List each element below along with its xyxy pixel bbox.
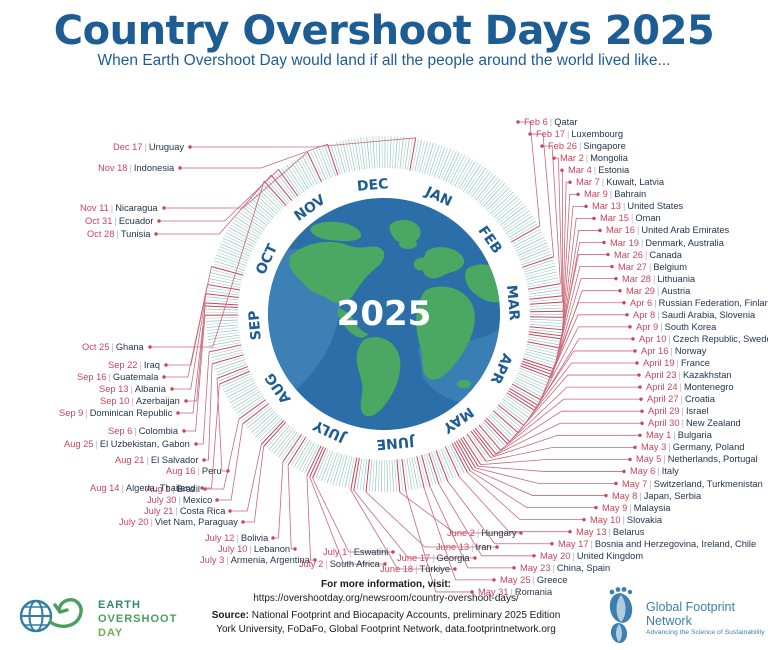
- country-names: Luxembourg: [571, 129, 623, 139]
- country-day-label: Aug 25|El Uzbekistan, Gabon: [64, 439, 190, 450]
- leader-line: [518, 363, 637, 433]
- infographic-canvas: Country Overshoot Days 2025 When Earth O…: [0, 0, 768, 650]
- overshoot-date: May 5: [636, 454, 661, 464]
- overshoot-date: Mar 19: [610, 238, 639, 248]
- label-dot: [162, 206, 165, 209]
- country-names: Lebanon: [254, 544, 290, 554]
- label-dot: [640, 422, 643, 425]
- country-day-label: Feb 6|Qatar: [524, 117, 577, 128]
- country-day-label: June 18|Türkiye: [380, 564, 450, 575]
- country-names: Peru: [202, 466, 222, 476]
- label-dot: [604, 494, 607, 497]
- label-dot: [635, 361, 638, 364]
- country-day-label: Apr 6|Russian Federation, Finland: [630, 298, 768, 309]
- country-names: Bahrain: [614, 189, 646, 199]
- label-dot: [188, 145, 191, 148]
- label-dot: [184, 399, 187, 402]
- country-names: Denmark, Australia: [645, 238, 724, 248]
- footer-text-block: For more information, visit: https://ove…: [176, 578, 596, 636]
- label-dot: [592, 217, 595, 220]
- label-dot: [182, 429, 185, 432]
- leader-line: [459, 476, 570, 531]
- overshoot-date: Mar 29: [626, 286, 655, 296]
- overshoot-date: May 20: [540, 551, 571, 561]
- country-names: Kuwait, Latvia: [606, 177, 664, 187]
- label-dot: [631, 337, 634, 340]
- country-day-label: April 29|Israel: [648, 406, 709, 417]
- gfn-name: Global Footprint Network: [646, 600, 765, 628]
- leader-line: [481, 459, 630, 464]
- label-dot: [582, 518, 585, 521]
- country-day-label: July 21|Costa Rica: [144, 506, 225, 517]
- label-dot: [453, 567, 456, 570]
- label-dot: [633, 446, 636, 449]
- overshoot-date: May 3: [641, 442, 666, 452]
- country-names: Georgia: [437, 553, 470, 563]
- label-dot: [162, 375, 165, 378]
- footprint-icon: [600, 586, 642, 644]
- label-dot: [512, 566, 515, 569]
- country-day-label: June 2|Hungary: [447, 528, 516, 539]
- country-names: Czech Republic, Sweden: [673, 334, 768, 344]
- label-dot: [628, 325, 631, 328]
- country-day-label: Apr 9|South Korea: [636, 322, 716, 333]
- country-names: Azerbaijan: [136, 396, 180, 406]
- country-names: Iraq: [144, 360, 160, 370]
- overshoot-date: April 27: [647, 394, 679, 404]
- leader-line: [205, 419, 239, 489]
- country-day-label: Nov 18|Indonesia: [98, 163, 174, 174]
- country-names: Algeria, Thailand: [126, 483, 196, 493]
- country-day-label: April 24|Montenegro: [646, 382, 734, 393]
- overshoot-date: Oct 25: [82, 342, 109, 352]
- label-dot: [154, 232, 157, 235]
- country-names: Colombia: [139, 426, 178, 436]
- overshoot-date: July 20: [119, 517, 148, 527]
- label-dot: [622, 301, 625, 304]
- country-names: Switzerland, Turkmenistan: [654, 479, 763, 489]
- label-dot: [176, 411, 179, 414]
- country-day-label: May 7|Switzerland, Turkmenistan: [622, 479, 763, 490]
- label-dot: [606, 253, 609, 256]
- country-day-label: June 17|Georgia: [397, 553, 470, 564]
- label-dot: [519, 531, 522, 534]
- overshoot-date: April 30: [648, 418, 680, 428]
- label-dot: [164, 363, 167, 366]
- overshoot-date: Aug 16: [166, 466, 195, 476]
- leader-line: [475, 468, 616, 484]
- country-day-label: Oct 31|Ecuador: [85, 216, 153, 227]
- earth-icon: 2025: [268, 198, 500, 430]
- overshoot-date: Mar 7: [576, 177, 600, 187]
- country-day-label: Mar 27|Belgium: [618, 262, 687, 273]
- label-dot: [293, 547, 296, 550]
- overshoot-date: Nov 18: [98, 163, 127, 173]
- country-names: Hungary: [481, 528, 516, 538]
- overshoot-date: Sep 16: [77, 372, 106, 382]
- overshoot-date: Apr 6: [630, 298, 652, 308]
- country-names: Saudi Arabia, Slovenia: [662, 310, 756, 320]
- overshoot-date: Mar 4: [568, 165, 592, 175]
- country-names: Norway: [675, 346, 707, 356]
- leader-line: [478, 466, 624, 471]
- overshoot-date: April 29: [648, 406, 680, 416]
- country-names: El Uzbekistan, Gabon: [100, 439, 190, 449]
- label-dot: [560, 169, 563, 172]
- overshoot-date: Mar 28: [622, 274, 651, 284]
- label-dot: [568, 530, 571, 533]
- country-day-label: Sep 10|Azerbaijan: [100, 396, 180, 407]
- country-names: Nicaragua: [115, 203, 157, 213]
- country-day-label: April 19|France: [643, 358, 710, 369]
- overshoot-date: Feb 26: [548, 141, 577, 151]
- label-dot: [640, 410, 643, 413]
- country-day-label: May 17|Bosnia and Herzegovina, Ireland, …: [558, 539, 756, 550]
- leader-line: [510, 375, 639, 442]
- country-day-label: May 9|Malaysia: [602, 503, 670, 514]
- country-names: El Salvador: [151, 455, 199, 465]
- country-names: United Arab Emirates: [641, 225, 729, 235]
- leader-line: [467, 472, 584, 519]
- overshoot-date: July 30: [147, 495, 176, 505]
- source-text-1: National Footprint and Biocapacity Accou…: [252, 610, 561, 621]
- country-day-label: Oct 28|Tunisia: [87, 229, 150, 240]
- label-dot: [576, 193, 579, 196]
- country-day-label: Dec 17|Uruguay: [113, 142, 184, 153]
- overshoot-date: July 21: [144, 506, 173, 516]
- country-names: Belarus: [613, 527, 645, 537]
- label-dot: [625, 313, 628, 316]
- label-dot: [528, 132, 531, 135]
- overshoot-date: Sep 6: [108, 426, 132, 436]
- country-day-label: Apr 10|Czech Republic, Sweden: [639, 334, 768, 345]
- global-footprint-network-logo: Global Footprint Network Advancing the S…: [600, 584, 765, 646]
- more-info-label: For more information, visit:: [176, 578, 596, 592]
- label-dot: [639, 397, 642, 400]
- country-names: Eswatini: [354, 547, 389, 557]
- country-names: Bulgaria: [678, 430, 712, 440]
- country-day-label: Mar 2|Mongolia: [560, 153, 628, 164]
- eod-line-3: DAY: [98, 626, 177, 640]
- country-day-label: Mar 28|Lithuania: [622, 274, 695, 285]
- overshoot-date: Apr 8: [633, 310, 655, 320]
- earth-overshoot-day-logo: EARTH OVERSHOOT DAY: [14, 590, 174, 642]
- country-day-label: Mar 19|Denmark, Australia: [610, 238, 724, 249]
- country-names: Lithuania: [657, 274, 695, 284]
- country-day-label: Mar 26|Canada: [614, 250, 682, 261]
- country-names: Bolivia: [241, 533, 268, 543]
- country-day-label: Apr 16|Norway: [641, 346, 706, 357]
- country-names: Armenia, Argentina: [231, 555, 310, 565]
- overshoot-date: May 8: [612, 491, 637, 501]
- country-names: Slovakia: [627, 515, 662, 525]
- country-names: Japan, Serbia: [644, 491, 701, 501]
- country-names: Ecuador: [119, 216, 154, 226]
- overshoot-date: July 3: [200, 555, 224, 565]
- label-dot: [638, 385, 641, 388]
- country-day-label: May 13|Belarus: [576, 527, 644, 538]
- earth-overshoot-day-wordmark: EARTH OVERSHOOT DAY: [98, 598, 177, 640]
- country-names: Montenegro: [684, 382, 734, 392]
- country-names: Türkiye: [420, 564, 450, 574]
- country-names: Mexico: [183, 495, 212, 505]
- overshoot-date: Feb 17: [536, 129, 565, 139]
- overshoot-date: Aug 25: [64, 439, 93, 449]
- gfn-tagline: Advancing the Science of Sustainability: [646, 629, 765, 636]
- country-day-label: Feb 17|Luxembourg: [536, 129, 623, 140]
- country-day-label: April 27|Croatia: [647, 394, 715, 405]
- country-day-label: Aug 21|El Salvador: [115, 455, 198, 466]
- country-names: Ghana: [116, 342, 144, 352]
- country-names: Iran: [476, 542, 492, 552]
- country-day-label: Sep 9|Dominican Republic: [59, 408, 172, 419]
- label-dot: [495, 545, 498, 548]
- country-names: Oman: [635, 213, 660, 223]
- country-names: Croatia: [685, 394, 715, 404]
- country-day-label: May 23|China, Spain: [520, 563, 610, 574]
- country-day-label: July 3|Armenia, Argentina: [200, 555, 310, 566]
- country-day-label: Mar 16|United Arab Emirates: [606, 225, 729, 236]
- country-names: New Zealand: [686, 418, 741, 428]
- country-day-label: July 12|Bolivia: [205, 533, 268, 544]
- source-label: Source:: [212, 610, 249, 621]
- country-day-label: May 8|Japan, Serbia: [612, 491, 701, 502]
- label-dot: [568, 181, 571, 184]
- country-day-label: Nov 11|Nicaragua: [80, 203, 158, 214]
- label-dot: [638, 434, 641, 437]
- label-dot: [532, 554, 535, 557]
- overshoot-date: May 13: [576, 527, 607, 537]
- country-day-label: Sep 6|Colombia: [108, 426, 178, 437]
- country-day-label: May 1|Bulgaria: [646, 430, 712, 441]
- label-dot: [614, 482, 617, 485]
- eod-line-2: OVERSHOOT: [98, 612, 177, 626]
- overshoot-date: Apr 9: [636, 322, 658, 332]
- overshoot-date: Dec 17: [113, 142, 142, 152]
- label-dot: [602, 241, 605, 244]
- leader-line: [288, 465, 295, 549]
- overshoot-date: July 10: [218, 544, 247, 554]
- country-names: Mongolia: [590, 153, 628, 163]
- overshoot-date: June 17: [397, 553, 430, 563]
- country-names: Russian Federation, Finland: [659, 298, 768, 308]
- label-dot: [241, 520, 244, 523]
- overshoot-url[interactable]: https://overshootday.org/newsroom/countr…: [176, 592, 596, 606]
- label-dot: [594, 506, 597, 509]
- country-day-label: Feb 26|Singapore: [548, 141, 626, 152]
- overshoot-date: June 18: [380, 564, 413, 574]
- label-dot: [540, 144, 543, 147]
- month-label-june: JUNE: [376, 433, 416, 452]
- overshoot-date: June 13: [436, 542, 469, 552]
- country-day-label: Oct 25|Ghana: [82, 342, 144, 353]
- country-names: Kazakhstan: [683, 370, 732, 380]
- overshoot-date: Sep 10: [100, 396, 129, 406]
- overshoot-date: June 2: [447, 528, 475, 538]
- country-day-label: Sep 13|Albania: [99, 384, 166, 395]
- country-day-label: Mar 15|Oman: [600, 213, 661, 224]
- month-label-sep: SEP: [246, 310, 265, 341]
- overshoot-date: May 1: [646, 430, 671, 440]
- label-dot: [200, 486, 203, 489]
- country-names: Belgium: [653, 262, 687, 272]
- overshoot-date: April 24: [646, 382, 678, 392]
- country-names: Austria: [661, 286, 690, 296]
- overshoot-date: Apr 10: [639, 334, 666, 344]
- label-dot: [157, 219, 160, 222]
- label-dot: [628, 458, 631, 461]
- overshoot-date: May 17: [558, 539, 589, 549]
- earth-overshoot-day-mark: [14, 592, 94, 640]
- country-day-label: Mar 7|Kuwait, Latvia: [576, 177, 664, 188]
- country-day-label: June 13|Iran: [436, 542, 492, 553]
- country-names: Qatar: [554, 117, 577, 127]
- overshoot-date: May 7: [622, 479, 647, 489]
- overshoot-date: Mar 13: [592, 201, 621, 211]
- label-dot: [148, 345, 151, 348]
- country-names: Viet Nam, Paraguay: [155, 517, 238, 527]
- overshoot-date: May 9: [602, 503, 627, 513]
- label-dot: [622, 470, 625, 473]
- eod-line-1: EARTH: [98, 598, 177, 612]
- country-day-label: Mar 13|United States: [592, 201, 683, 212]
- label-dot: [550, 542, 553, 545]
- label-dot: [194, 442, 197, 445]
- overshoot-date: Oct 31: [85, 216, 112, 226]
- overshoot-date: Mar 27: [618, 262, 647, 272]
- country-names: Dominican Republic: [90, 408, 173, 418]
- country-names: United Kingdom: [577, 551, 643, 561]
- country-day-label: July 20|Viet Nam, Paraguay: [119, 517, 238, 528]
- country-day-label: Mar 9|Bahrain: [584, 189, 646, 200]
- country-day-label: Aug 16|Peru: [166, 466, 222, 477]
- overshoot-date: Feb 6: [524, 117, 548, 127]
- country-names: Indonesia: [134, 163, 174, 173]
- country-names: Bosnia and Herzegovina, Ireland, Chile: [595, 539, 756, 549]
- overshoot-date: July 1: [323, 547, 347, 557]
- country-day-label: Mar 29|Austria: [626, 286, 690, 297]
- label-dot: [618, 289, 621, 292]
- country-names: Tunisia: [121, 229, 151, 239]
- month-label-dec: DEC: [356, 176, 389, 195]
- overshoot-date: Aug 21: [115, 455, 144, 465]
- overshoot-date: Mar 9: [584, 189, 608, 199]
- label-dot: [584, 205, 587, 208]
- country-day-label: May 6|Italy: [630, 466, 679, 477]
- country-names: China, Spain: [557, 563, 610, 573]
- label-dot: [473, 556, 476, 559]
- country-names: United States: [627, 201, 683, 211]
- country-day-label: July 1|Eswatini: [323, 547, 388, 558]
- overshoot-date: Mar 15: [600, 213, 629, 223]
- label-dot: [226, 469, 229, 472]
- overshoot-date: Sep 9: [59, 408, 83, 418]
- globe-graphic: JANFEBMARAPRMAYJUNEJULYAUGSEPOCTNOVDEC: [246, 176, 522, 452]
- label-dot: [610, 265, 613, 268]
- country-day-label: Sep 22|Iraq: [108, 360, 160, 371]
- country-day-label: May 10|Slovakia: [590, 515, 662, 526]
- month-label-mar: MAR: [503, 284, 522, 321]
- country-names: Guatemala: [113, 372, 158, 382]
- country-day-label: Sep 16|Guatemala: [77, 372, 158, 383]
- label-dot: [633, 349, 636, 352]
- label-dot: [271, 536, 274, 539]
- label-dot: [178, 166, 181, 169]
- label-dot: [516, 120, 519, 123]
- overshoot-date: July 12: [205, 533, 234, 543]
- label-dot: [391, 550, 394, 553]
- gfn-wordmark: Global Footprint Network Advancing the S…: [646, 600, 765, 636]
- country-day-label: May 20|United Kingdom: [540, 551, 643, 562]
- country-day-label: Aug 14|Algeria, Thailand: [90, 483, 196, 494]
- country-names: Singapore: [583, 141, 625, 151]
- country-names: Estonia: [598, 165, 629, 175]
- footer: EARTH OVERSHOOT DAY For more information…: [0, 578, 768, 650]
- country-names: Netherlands, Portugal: [668, 454, 758, 464]
- label-dot: [228, 509, 231, 512]
- leader-line: [473, 469, 606, 495]
- country-day-label: July 2|South Africa: [299, 559, 380, 570]
- country-names: Canada: [649, 250, 682, 260]
- country-day-label: May 3|Germany, Poland: [641, 442, 744, 453]
- country-day-label: July 30|Mexico: [147, 495, 212, 506]
- country-names: Italy: [662, 466, 679, 476]
- country-names: Germany, Poland: [673, 442, 745, 452]
- leader-line: [524, 351, 635, 426]
- overshoot-date: May 6: [630, 466, 655, 476]
- overshoot-date: April 23: [645, 370, 677, 380]
- label-dot: [170, 387, 173, 390]
- overshoot-date: Sep 13: [99, 384, 128, 394]
- year-label: 2025: [268, 294, 500, 334]
- overshoot-date: Aug 14: [90, 483, 119, 493]
- country-names: South Africa: [330, 559, 380, 569]
- country-names: South Korea: [665, 322, 717, 332]
- overshoot-date: April 19: [643, 358, 675, 368]
- overshoot-date: Mar 2: [560, 153, 584, 163]
- country-day-label: April 23|Kazakhstan: [645, 370, 732, 381]
- source-line-1: Source: National Footprint and Biocapaci…: [176, 609, 596, 623]
- country-names: Uruguay: [149, 142, 184, 152]
- country-names: Israel: [686, 406, 709, 416]
- overshoot-date: Sep 22: [108, 360, 137, 370]
- overshoot-date: Mar 26: [614, 250, 643, 260]
- leader-line: [180, 144, 328, 168]
- label-dot: [552, 156, 555, 159]
- label-dot: [202, 458, 205, 461]
- label-dot: [637, 373, 640, 376]
- leader-line: [273, 462, 283, 538]
- country-names: Albania: [135, 384, 166, 394]
- label-dot: [614, 277, 617, 280]
- label-dot: [215, 498, 218, 501]
- label-dot: [598, 229, 601, 232]
- overshoot-date: Apr 16: [641, 346, 668, 356]
- country-day-label: July 10|Lebanon: [218, 544, 290, 555]
- country-day-label: May 5|Netherlands, Portugal: [636, 454, 758, 465]
- overshoot-date: Nov 11: [80, 203, 109, 213]
- overshoot-date: May 23: [520, 563, 551, 573]
- country-day-label: Apr 8|Saudi Arabia, Slovenia: [633, 310, 755, 321]
- country-names: France: [681, 358, 710, 368]
- overshoot-date: Oct 28: [87, 229, 114, 239]
- country-day-label: Mar 4|Estonia: [568, 165, 629, 176]
- country-names: Costa Rica: [180, 506, 225, 516]
- country-names: Malaysia: [634, 503, 671, 513]
- source-line-2: York University, FoDaFo, Global Footprin…: [176, 623, 596, 637]
- overshoot-date: Mar 16: [606, 225, 635, 235]
- overshoot-date: May 10: [590, 515, 621, 525]
